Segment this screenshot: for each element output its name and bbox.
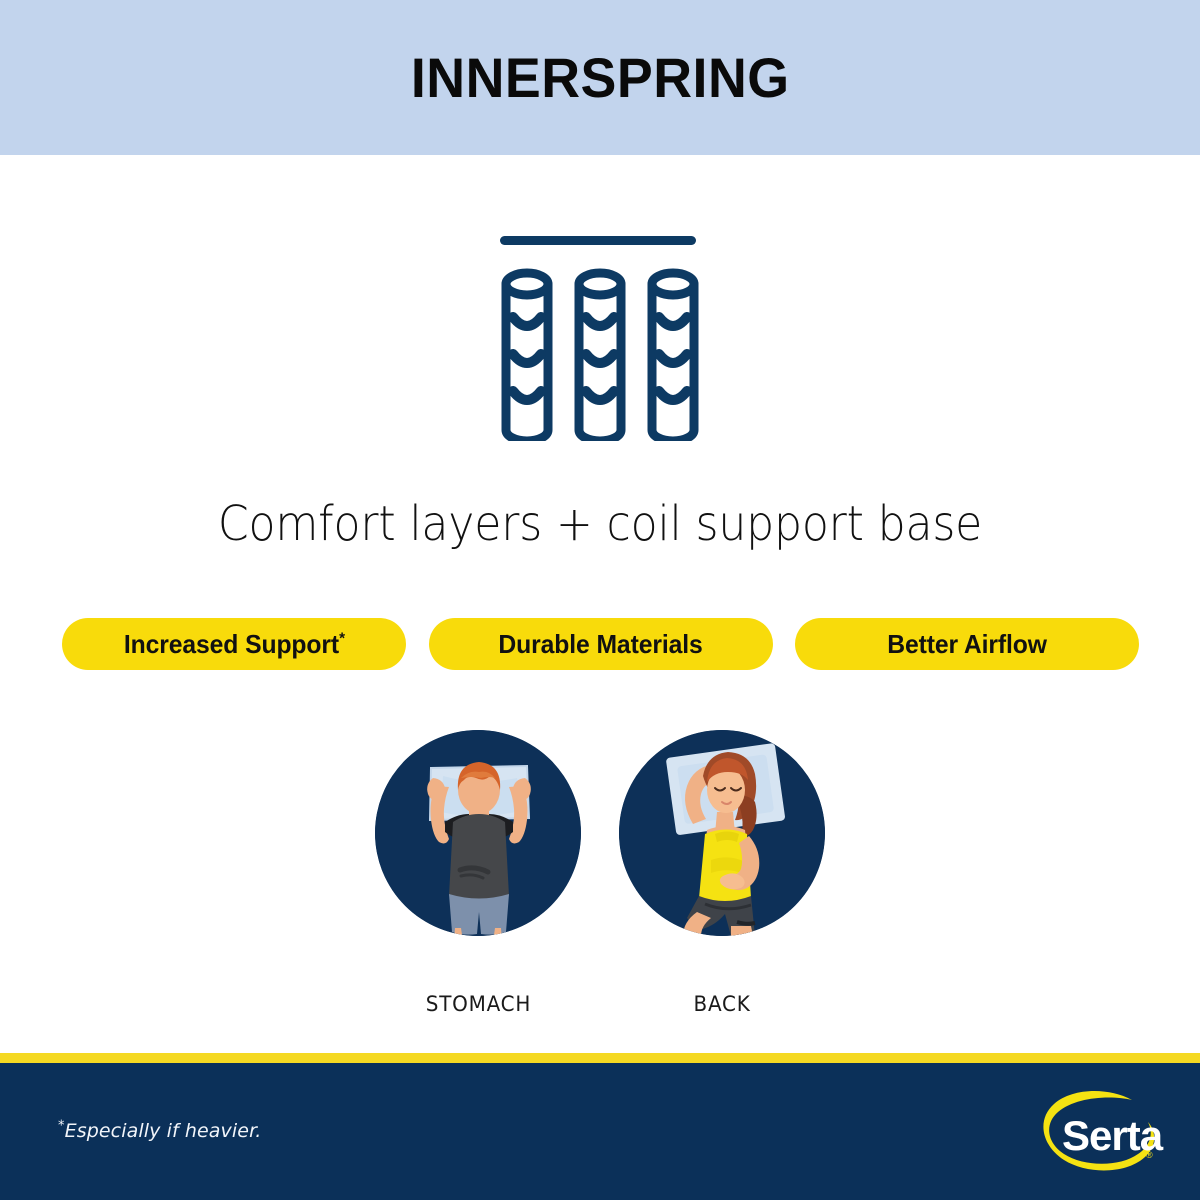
footnote-marker: *: [58, 1119, 65, 1134]
sleep-position-label: STOMACH: [425, 992, 530, 1016]
feature-pill-label: Better Airflow: [887, 629, 1047, 659]
feature-pill-label: Increased Support: [123, 629, 338, 659]
back-sleeper-illustration: [619, 730, 825, 936]
subtitle-text: Comfort layers + coil support base: [48, 497, 1152, 552]
page-title: INNERSPRING: [411, 50, 790, 106]
sleep-position-label: BACK: [693, 992, 750, 1016]
feature-pill-durable-materials[interactable]: Durable Materials: [429, 618, 773, 670]
footer-accent-stripe: [0, 1053, 1200, 1063]
serta-logo[interactable]: Serta ®: [1036, 1088, 1164, 1185]
header-banner: INNERSPRING: [0, 0, 1200, 155]
feature-pill-label: Durable Materials: [498, 629, 702, 659]
feature-pill-row: Increased Support* Durable Materials Bet…: [62, 618, 1139, 670]
registered-mark: ®: [1146, 1150, 1153, 1160]
footnote-marker: *: [339, 630, 345, 647]
footnote: *Especially if heavier.: [58, 1120, 261, 1142]
stomach-sleeper-illustration: [375, 730, 581, 936]
infographic-page: INNERSPRING: [0, 0, 1200, 1200]
feature-pill-increased-support[interactable]: Increased Support*: [62, 618, 406, 670]
feature-pill-better-airflow[interactable]: Better Airflow: [795, 618, 1139, 670]
footnote-text: Especially if heavier.: [65, 1120, 262, 1142]
sleep-position-stomach[interactable]: STOMACH: [375, 730, 581, 1016]
sleep-positions-row: STOMACH: [0, 730, 1200, 1016]
sleep-position-back[interactable]: BACK: [619, 730, 825, 1016]
coil-springs-icon: [500, 236, 700, 446]
